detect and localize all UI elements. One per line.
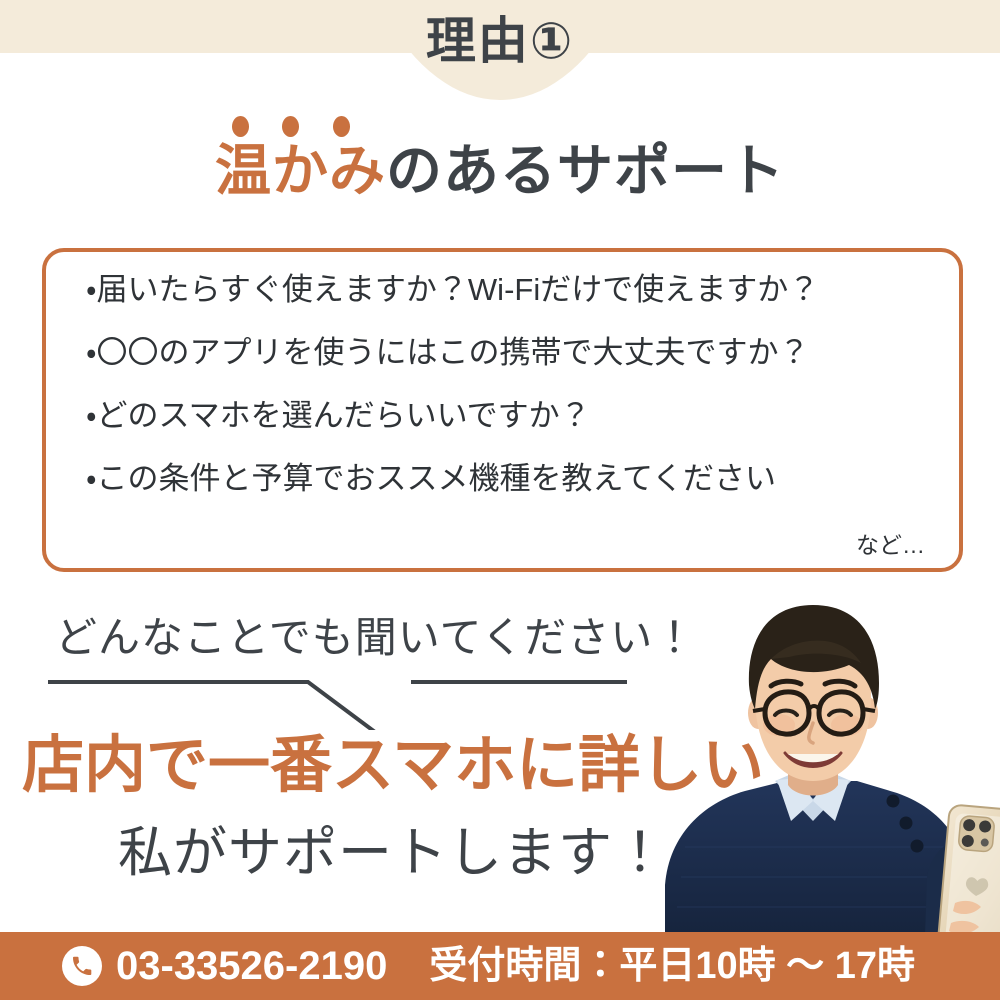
emphasis-dot-2: [282, 116, 299, 137]
emphasis-dot-3: [333, 116, 350, 137]
subtitle: 温かみのあるサポート: [0, 140, 1000, 202]
business-hours: 受付時間：平日10時 〜 17時: [429, 947, 915, 985]
speech-underline-with-tail: [40, 660, 670, 730]
question-box: ・届いたらすぐ使えますか？Wi-Fiだけで使えますか？ ・〇〇のアプリを使うには…: [42, 248, 963, 572]
phone-number[interactable]: 03-33526-2190: [116, 946, 387, 986]
headline-line-2: 私がサポートします！: [118, 826, 668, 880]
question-item: ・届いたらすぐ使えますか？Wi-Fiだけで使えますか？: [86, 274, 941, 305]
question-list: ・届いたらすぐ使えますか？Wi-Fiだけで使えますか？ ・〇〇のアプリを使うには…: [86, 274, 941, 494]
emphasis-dots: [228, 116, 368, 138]
contact-footer-bar: 03-33526-2190 受付時間：平日10時 〜 17時: [0, 932, 1000, 1000]
emphasis-dot-1: [232, 116, 249, 137]
phone-handset-icon: [62, 946, 102, 986]
footer-inner: 03-33526-2190 受付時間：平日10時 〜 17時: [0, 946, 915, 986]
etc-label: など…: [856, 526, 925, 560]
question-item: ・どのスマホを選んだらいいですか？: [86, 400, 941, 431]
subtitle-rest: のあるサポート: [386, 139, 785, 202]
speech-text: どんなことでも聞いてください！: [55, 604, 696, 665]
question-item: ・この条件と予算でおススメ機種を教えてください: [86, 463, 941, 494]
poster-root: 理由① 温かみのあるサポート ・届いたらすぐ使えますか？Wi-Fiだけで使えます…: [0, 0, 1000, 1000]
subtitle-highlight: 温かみ: [215, 139, 386, 202]
question-item: ・〇〇のアプリを使うにはこの携帯で大丈夫ですか？: [86, 337, 941, 368]
banner-title: 理由①: [0, 16, 1000, 66]
headline-line-1: 店内で一番スマホに詳しい: [22, 735, 764, 797]
